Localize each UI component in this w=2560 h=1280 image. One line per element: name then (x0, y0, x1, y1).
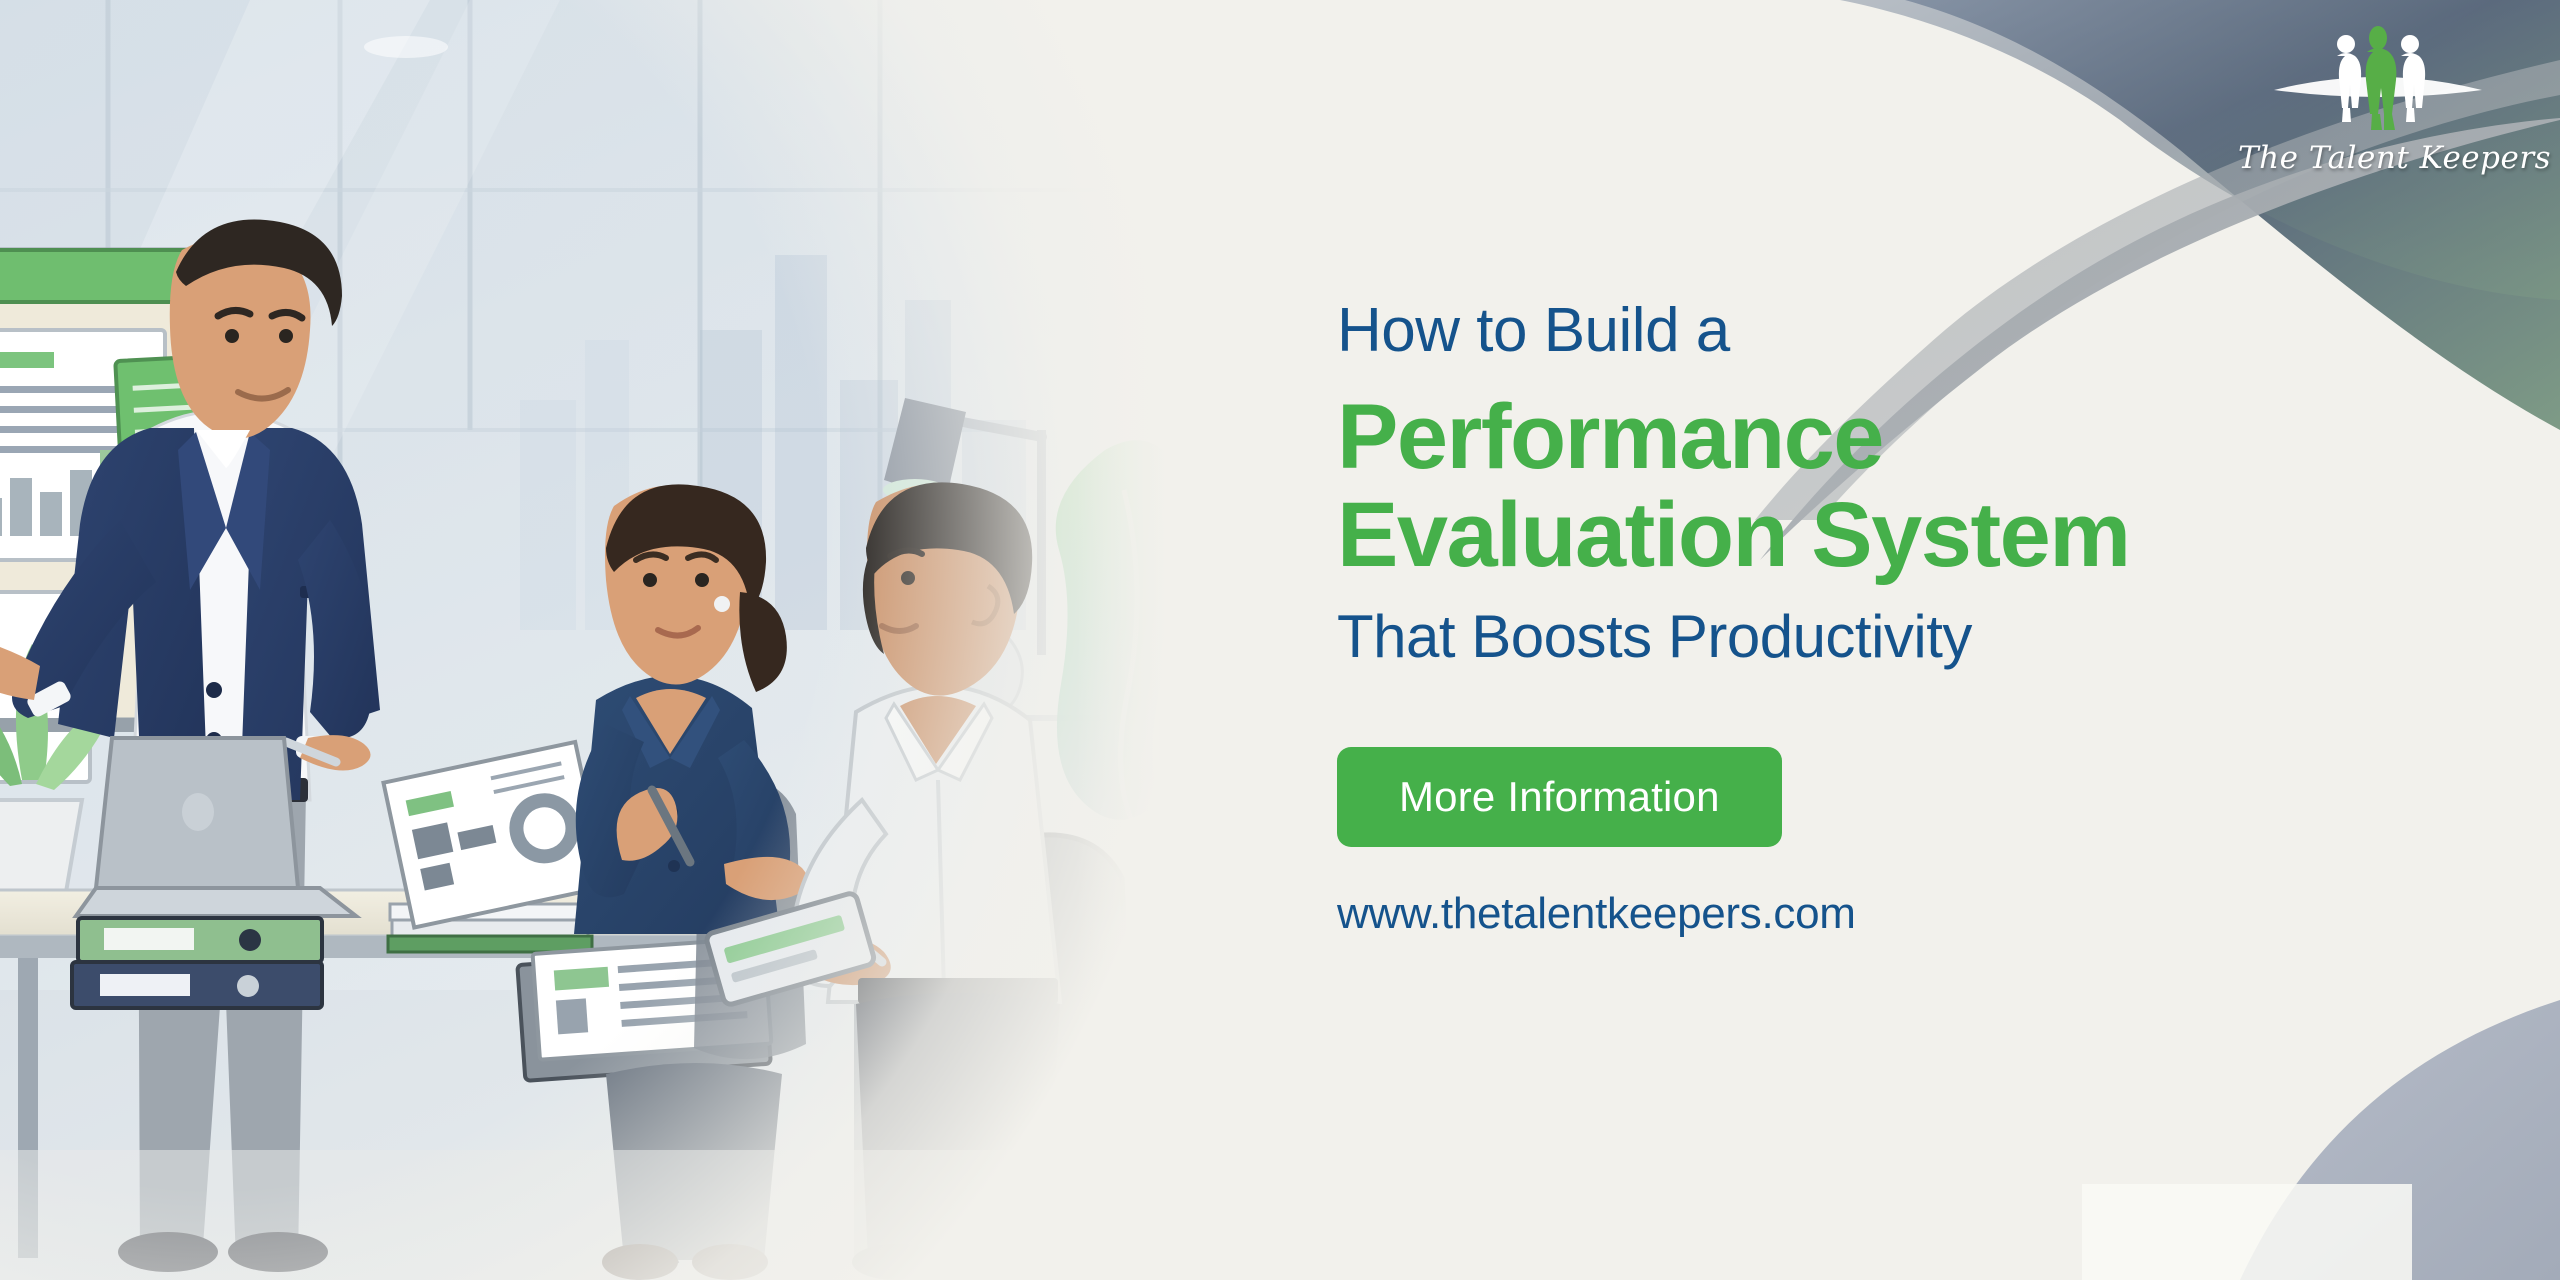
headline-line-2: Evaluation System (1337, 486, 2457, 584)
brand-logo[interactable]: The Talent Keepers (2238, 18, 2518, 208)
website-url[interactable]: www.thetalentkeepers.com (1337, 889, 2457, 939)
office-team-illustration (0, 0, 1200, 1280)
more-information-button[interactable]: More Information (1337, 747, 1782, 847)
headline-line-1: Performance (1337, 388, 2457, 486)
promo-copy: How to Build a Performance Evaluation Sy… (1337, 300, 2457, 939)
subheadline-text: That Boosts Productivity (1337, 607, 2457, 667)
promo-banner: The Talent Keepers How to Build a Perfor… (0, 0, 2560, 1280)
eyebrow-text: How to Build a (1337, 300, 2457, 362)
page-title: Performance Evaluation System (1337, 388, 2457, 585)
brand-name: The Talent Keepers (2238, 140, 2518, 176)
three-people-silhouette-icon (2248, 18, 2508, 138)
